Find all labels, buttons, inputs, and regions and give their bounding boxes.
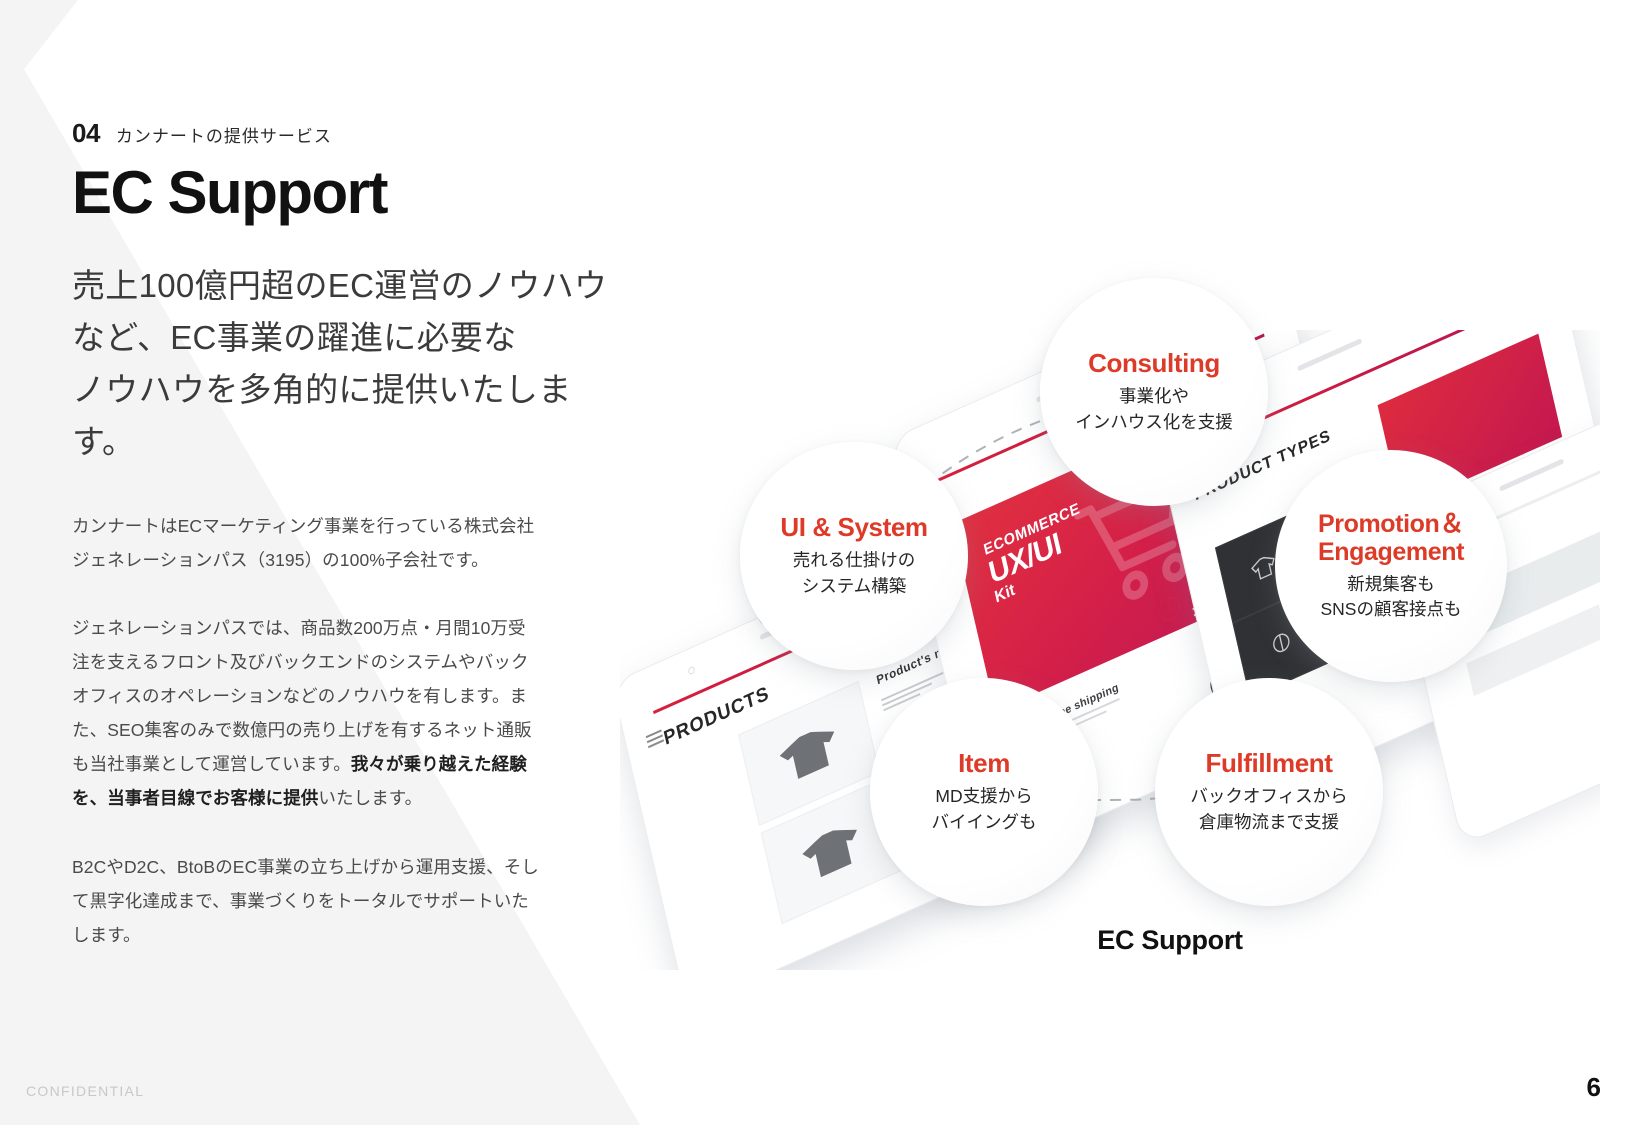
ec-support-diagram: Online STORE PRODUCTS Product's name ADD [620,330,1600,970]
bubble-item[interactable]: Item MD支援から バイイングも [870,678,1098,906]
diagram-caption: EC Support [1025,925,1315,956]
paragraph-3-text: B2CやD2C、BtoBのEC事業の立ち上げから運用支援、そし て黒字化達成まで… [72,857,539,945]
tshirt-icon [778,722,841,784]
section-number: 04 [72,118,100,149]
body-paragraph-3: B2CやD2C、BtoBのEC事業の立ち上げから運用支援、そし て黒字化達成まで… [72,850,632,952]
body-copy: カンナートはECマーケティング事業を行っている株式会社 ジェネレーションパス（3… [72,509,632,952]
bubble-title: Promotion＆ Engagement [1318,510,1464,566]
bubble-consulting[interactable]: Consulting 事業化や インハウス化を支援 [1040,278,1268,506]
bubble-ui-system[interactable]: UI & System 売れる仕掛けの システム構築 [740,442,968,670]
diagram-caption-wrap: EC Support [1025,925,1315,956]
tshirt-icon [800,821,863,883]
bubble-fulfillment[interactable]: Fulfillment バックオフィスから 倉庫物流まで支援 [1155,678,1383,906]
section-label: カンナートの提供サービス [116,122,332,147]
body-paragraph-1: カンナートはECマーケティング事業を行っている株式会社 ジェネレーションパス（3… [72,509,632,577]
bubble-promotion-engagement[interactable]: Promotion＆ Engagement 新規集客も SNSの顧客接点も [1275,450,1507,682]
tshirt-glyph-icon [1250,552,1278,582]
bubble-title: Consulting [1088,349,1220,378]
content-column: 04 カンナートの提供サービス EC Support 売上100億円超のEC運営… [72,118,632,952]
bag-glyph-icon [1269,627,1294,658]
bubble-subtitle: 売れる仕掛けの システム構築 [793,548,916,599]
bubble-subtitle: バックオフィスから 倉庫物流まで支援 [1190,784,1347,835]
bubble-title: Item [958,749,1010,778]
bubble-subtitle: 新規集客も SNSの顧客接点も [1321,572,1462,623]
section-eyebrow: 04 カンナートの提供サービス [72,118,632,149]
paragraph-2-tail: いたします。 [318,788,422,808]
confidential-label: CONFIDENTIAL [26,1083,144,1099]
bubble-subtitle: MD支援から バイイングも [932,784,1037,835]
body-paragraph-2: ジェネレーションパスでは、商品数200万点・月間10万受 注を支えるフロント及び… [72,611,632,816]
bubble-subtitle: 事業化や インハウス化を支援 [1075,384,1233,435]
page-number: 6 [1587,1072,1601,1103]
lead-paragraph: 売上100億円超のEC運営のノウハウ など、EC事業の躍進に必要な ノウハウを多… [72,260,632,469]
paragraph-2-text: ジェネレーションパスでは、商品数200万点・月間10万受 注を支えるフロント及び… [72,618,532,775]
page-title: EC Support [72,161,632,224]
slide-root: 04 カンナートの提供サービス EC Support 売上100億円超のEC運営… [0,0,1625,1125]
paragraph-1-text: カンナートはECマーケティング事業を行っている株式会社 ジェネレーションパス（3… [72,516,534,570]
bubble-title: Fulfillment [1205,749,1332,778]
bubble-title: UI & System [780,513,927,542]
